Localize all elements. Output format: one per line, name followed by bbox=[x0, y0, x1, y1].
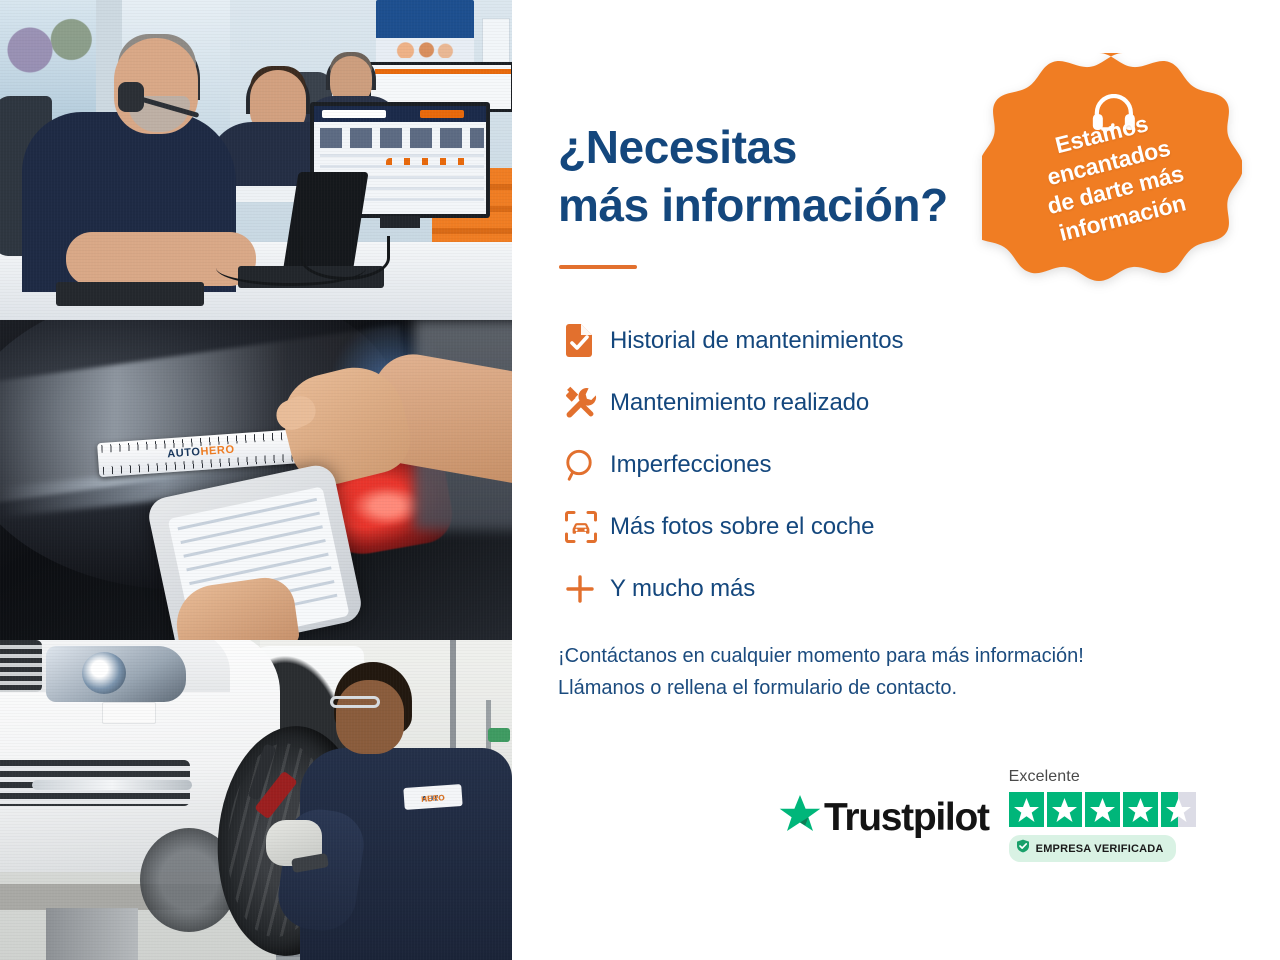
ruler-logo-hero: HERO bbox=[200, 444, 235, 458]
trustpilot-logo[interactable]: Trustpilot bbox=[778, 794, 989, 841]
trustpilot-widget[interactable]: Trustpilot Excelente bbox=[778, 768, 1196, 862]
star-half bbox=[1161, 792, 1196, 827]
car-inspection-ruler-photo: AUTOHERO bbox=[0, 320, 512, 640]
feature-label: Historial de mantenimientos bbox=[610, 329, 903, 353]
star-filled bbox=[1009, 792, 1044, 827]
wrench-screwdriver-icon bbox=[558, 383, 610, 423]
trustpilot-star-icon bbox=[778, 794, 822, 841]
feature-label: Mantenimiento realizado bbox=[610, 391, 869, 415]
feature-item-fotos: Más fotos sobre el coche bbox=[558, 496, 1118, 558]
feature-label: Y mucho más bbox=[610, 577, 755, 601]
ruler-logo-auto: AUTO bbox=[167, 446, 201, 460]
star-filled bbox=[1123, 792, 1158, 827]
document-check-icon bbox=[558, 321, 610, 361]
uniform-badge-hero: HERO bbox=[404, 792, 462, 805]
magnifier-icon bbox=[558, 445, 610, 485]
feature-label: Imperfecciones bbox=[610, 453, 771, 477]
verified-label: EMPRESA VERIFICADA bbox=[1036, 843, 1164, 855]
mechanic-tire-change-photo: AUTOHERO bbox=[0, 640, 512, 960]
star-filled bbox=[1085, 792, 1120, 827]
feature-item-mas: Y mucho más bbox=[558, 558, 1118, 620]
photo-collage: AUTOHERO bbox=[0, 0, 512, 960]
contact-text: ¡Contáctanos en cualquier momento para m… bbox=[558, 640, 1238, 705]
shield-check-icon bbox=[1016, 839, 1030, 858]
verified-badge: EMPRESA VERIFICADA bbox=[1009, 835, 1176, 862]
plus-icon bbox=[558, 569, 610, 609]
rating-label: Excelente bbox=[1009, 768, 1196, 786]
feature-item-imperfecciones: Imperfecciones bbox=[558, 434, 1118, 496]
title-divider bbox=[559, 265, 637, 269]
star-filled bbox=[1047, 792, 1082, 827]
content-panel: ¿Necesitas más información? Estamos enca… bbox=[512, 0, 1280, 960]
star-rating bbox=[1009, 792, 1196, 827]
promo-banner: AUTOHERO bbox=[0, 0, 1280, 960]
car-focus-icon bbox=[558, 507, 610, 547]
feature-list: Historial de mantenimientos Mantenimient… bbox=[558, 310, 1118, 620]
feature-label: Más fotos sobre el coche bbox=[610, 515, 874, 539]
trustpilot-wordmark: Trustpilot bbox=[824, 796, 989, 840]
feature-item-historial: Historial de mantenimientos bbox=[558, 310, 1118, 372]
promo-badge: Estamos encantados de darte más informac… bbox=[982, 48, 1242, 306]
feature-item-mantenimiento: Mantenimiento realizado bbox=[558, 372, 1118, 434]
call-center-agents-photo bbox=[0, 0, 512, 320]
page-title: ¿Necesitas más información? bbox=[558, 118, 948, 235]
